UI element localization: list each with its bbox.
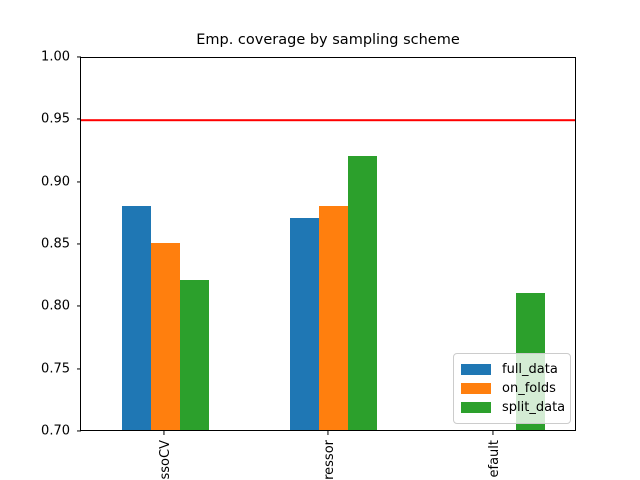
legend-label-on_folds: on_folds: [502, 382, 556, 395]
bar-full_data-0: [122, 206, 151, 431]
legend-item-on_folds: on_folds: [461, 379, 562, 398]
xtick-label-2: efault: [488, 440, 501, 478]
bar-split_data-1: [348, 156, 377, 430]
legend-label-split_data: split_data: [502, 401, 565, 414]
bar-on_folds-0: [151, 243, 180, 430]
plot-area: full_data on_folds split_data: [80, 57, 576, 431]
ytick-label-1: 0.75: [41, 362, 70, 375]
ytick-label-4: 0.90: [41, 175, 70, 188]
figure-canvas: Emp. coverage by sampling scheme 0.70 0.…: [0, 0, 640, 480]
legend-swatch-on_folds: [461, 383, 491, 394]
bar-on_folds-1: [319, 206, 348, 431]
legend-item-full_data: full_data: [461, 360, 562, 379]
ytick-label-2: 0.80: [41, 300, 70, 313]
threshold-line-0.95: [81, 120, 575, 122]
legend-item-split_data: split_data: [461, 398, 562, 417]
xtick-mark-2: [492, 431, 493, 435]
ytick-label-5: 0.95: [41, 113, 70, 126]
ytick-label-3: 0.85: [41, 238, 70, 251]
legend: full_data on_folds split_data: [453, 353, 571, 424]
legend-swatch-split_data: [461, 402, 491, 413]
bar-full_data-1: [290, 218, 319, 430]
xtick-mark-0: [163, 431, 164, 435]
ytick-label-0: 0.70: [41, 425, 70, 438]
legend-label-full_data: full_data: [502, 363, 558, 376]
xtick-label-1: ressor: [323, 440, 336, 480]
ytick-label-6: 1.00: [41, 51, 70, 64]
bar-split_data-0: [180, 280, 209, 430]
legend-swatch-full_data: [461, 364, 491, 375]
chart-title: Emp. coverage by sampling scheme: [80, 32, 576, 48]
xtick-mark-1: [327, 431, 328, 435]
xtick-label-0: ssoCV: [159, 440, 172, 479]
